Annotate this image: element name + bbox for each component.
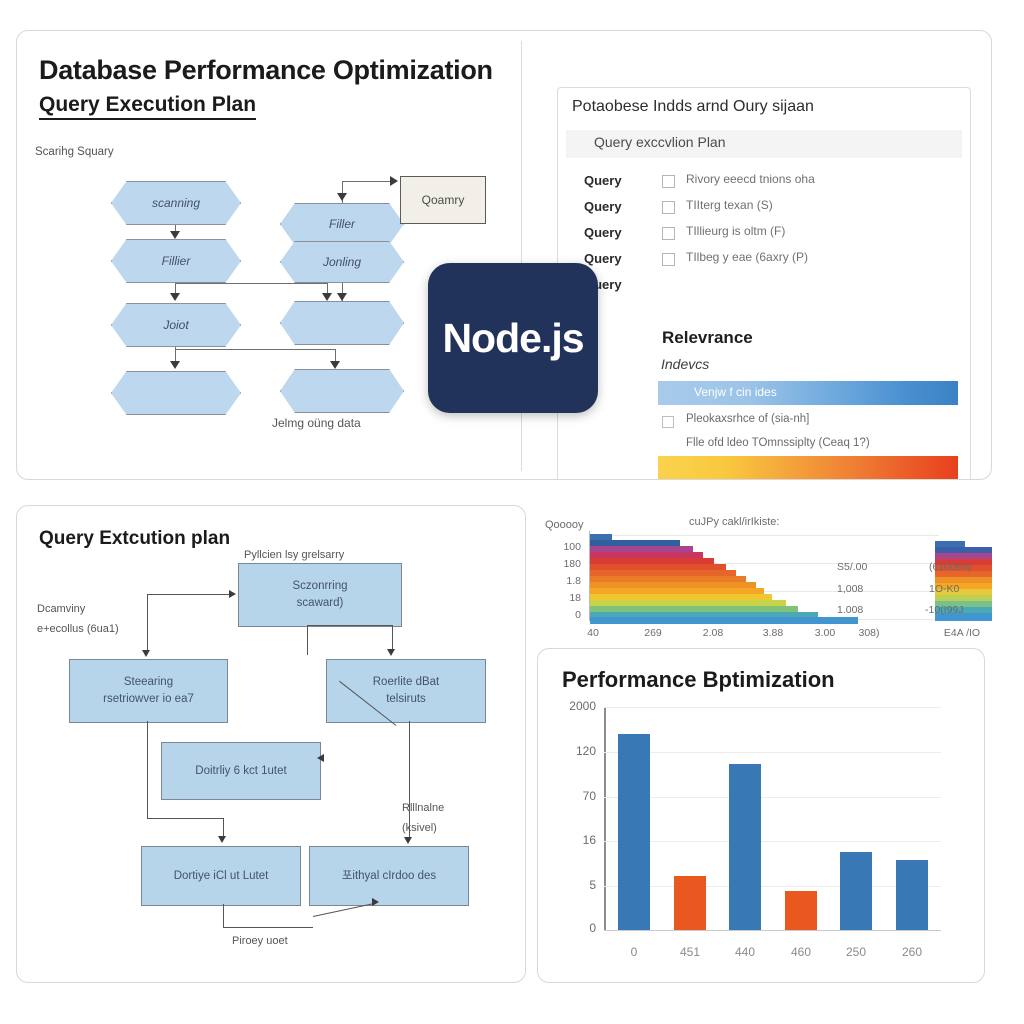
- performance-optimization-card: Performance Bptimization 2000 120 70 16 …: [537, 648, 985, 983]
- row-label: Query: [584, 225, 622, 240]
- screenshot-root: Database Performance Optimization Query …: [0, 0, 1024, 1024]
- node-scanning[interactable]: scanning: [111, 181, 241, 225]
- gridline: [589, 535, 939, 536]
- y-tick: 0: [547, 609, 581, 621]
- bar-chart-plot: 2000 120 70 16 5 0 0 451 440 460 250 260: [604, 707, 941, 931]
- y-tick: 16: [548, 833, 596, 847]
- arrow-head: [387, 649, 395, 656]
- x-tick: 3.88: [753, 627, 793, 639]
- panel-header: Potaobese Indds arnd Oury sijaan: [572, 98, 814, 116]
- bar: [590, 617, 858, 624]
- flow-note-left-1: Dcamviny: [37, 602, 85, 618]
- connector: [147, 594, 148, 652]
- indexes-heading: Indevcs: [661, 356, 709, 372]
- connector: [223, 927, 313, 928]
- flow-node-scanning[interactable]: Sczonrring scaward): [238, 563, 402, 627]
- list-item: Flle ofd ldeo TOmnssiplty (Ceaq 1?): [558, 436, 970, 458]
- x-tick: 440: [717, 945, 773, 959]
- legend-entry: 1O-K0: [929, 583, 959, 595]
- list-item[interactable]: Query TIllieurg is oltm (F): [558, 222, 970, 248]
- arrow-head: [229, 590, 236, 598]
- row-text: Pleokaxsrhce of (sia-nh]: [686, 413, 809, 425]
- checkbox-icon[interactable]: [662, 201, 675, 214]
- query-cost-chart: Qooooy cuJPy cakl/irIkiste: 100 180 1.8 …: [537, 505, 992, 643]
- node-label: Fillier: [111, 239, 241, 283]
- arrow-head: [404, 837, 412, 844]
- connector: [147, 594, 233, 595]
- node-line1: Sczonrring: [293, 578, 348, 595]
- arrow-head: [322, 293, 332, 301]
- connector: [175, 283, 327, 284]
- diagram-caption-left: Scarihg Squary: [35, 146, 114, 158]
- chart-ylabel: Qooooy: [545, 519, 584, 531]
- y-axis-line: [604, 707, 606, 931]
- node-line2: scaward): [297, 595, 344, 612]
- node-filter-right[interactable]: Filler: [280, 203, 404, 245]
- legend-entry: S5/.00: [837, 561, 867, 573]
- arrow-head: [170, 293, 180, 301]
- bar[interactable]: [674, 876, 706, 930]
- diagram-caption-bottom: Jelmg oüng data: [272, 416, 361, 430]
- x-tick: 2.08: [693, 627, 733, 639]
- flow-node-outlet-2[interactable]: Dortiye iCl ut Lutet: [141, 846, 301, 906]
- connector: [147, 818, 223, 819]
- connector: [342, 181, 392, 182]
- flow-note-right-2: (ksivel): [402, 821, 437, 837]
- chart-title: Performance Bptimization: [562, 667, 835, 693]
- relevance-heading: Relevrance: [662, 328, 753, 348]
- node-filter-left[interactable]: Fillier: [111, 239, 241, 283]
- checkbox-icon[interactable]: [662, 227, 675, 240]
- legend-entry: 1.008: [837, 604, 863, 616]
- node-label: [280, 301, 404, 345]
- x-tick: 3.00: [805, 627, 845, 639]
- flow-node-portal[interactable]: 포ithyal cIrdoo des: [309, 846, 469, 906]
- bar[interactable]: [840, 852, 872, 930]
- bar[interactable]: [618, 734, 650, 930]
- node-label: [111, 371, 241, 415]
- flow-node-steearing[interactable]: Steearing rsetriowver io ea7: [69, 659, 228, 723]
- bar[interactable]: [896, 860, 928, 930]
- arrow-head: [170, 231, 180, 239]
- panel-subheader: Query exccvlion Plan: [594, 134, 726, 150]
- x-tick: E4A /IO: [927, 627, 992, 639]
- x-tick: 308): [849, 627, 889, 639]
- y-tick: 18: [547, 592, 581, 604]
- checkbox-icon[interactable]: [662, 175, 675, 188]
- gridline: [604, 886, 941, 887]
- connector: [307, 625, 392, 626]
- y-tick: 180: [547, 558, 581, 570]
- x-tick: 460: [773, 945, 829, 959]
- x-tick: 250: [828, 945, 884, 959]
- arrow-head: [317, 754, 324, 762]
- list-item[interactable]: Query Rivory eeecd tnions oha: [558, 170, 970, 196]
- x-tick: 260: [884, 945, 940, 959]
- x-tick: 451: [662, 945, 718, 959]
- bottom-left-panel: Query Extcution plan Pyllcien lsy grelsa…: [16, 505, 526, 983]
- flow-node-outlet-1[interactable]: Doitrliy 6 kct 1utet: [161, 742, 321, 800]
- bar[interactable]: [729, 764, 761, 930]
- node-mid-right[interactable]: [280, 301, 404, 345]
- node-line1: Dortiye iCl ut Lutet: [174, 868, 269, 885]
- nodejs-logo-badge[interactable]: Node.js: [428, 263, 598, 413]
- row-label: Query: [584, 173, 622, 188]
- arrow-head: [337, 193, 347, 201]
- row-text: TIIterg texan (S): [686, 198, 773, 212]
- connector: [409, 721, 410, 839]
- page-title: Database Performance Optimization: [39, 55, 493, 86]
- chart-title: cuJPy cakl/irIkiste:: [689, 516, 779, 528]
- checkbox-icon[interactable]: [662, 253, 675, 266]
- node-line1: Roerlite dBat: [373, 674, 439, 691]
- y-tick: 100: [547, 541, 581, 553]
- arrow-head: [390, 176, 398, 186]
- blue-gradient-bar[interactable]: Venjw f cin ides: [658, 381, 958, 405]
- y-tick: 2000: [548, 699, 596, 713]
- node-line2: rsetriowver io ea7: [103, 691, 194, 708]
- node-bottom-right[interactable]: [280, 369, 404, 413]
- node-joining[interactable]: Jonling: [280, 241, 404, 283]
- panel-subheader-band: Query exccvlion Plan: [566, 130, 962, 158]
- node-label: Jonling: [280, 241, 404, 283]
- connector: [223, 904, 224, 928]
- connector: [307, 625, 308, 655]
- list-item[interactable]: Query TIlbeg y eae (6axry (P): [558, 248, 970, 274]
- node-label: Joiot: [111, 303, 241, 347]
- node-line2: telsiruts: [386, 691, 426, 708]
- panel-title: Query Extcution plan: [39, 528, 230, 550]
- gridline: [604, 752, 941, 753]
- y-tick: 120: [548, 744, 596, 758]
- legend-entry: -10(I99J: [925, 604, 964, 616]
- node-line1: 포ithyal cIrdoo des: [342, 868, 436, 885]
- arrow-head: [330, 361, 340, 369]
- x-tick: 269: [633, 627, 673, 639]
- node-label: [280, 369, 404, 413]
- x-tick: 0: [606, 945, 662, 959]
- legend-entry: (6100en): [929, 561, 971, 573]
- connector: [223, 818, 224, 838]
- node-join[interactable]: Joiot: [111, 303, 241, 347]
- arrow-head: [142, 650, 150, 657]
- row-text: TIlbeg y eae (6axry (P): [686, 250, 808, 264]
- page-subtitle: Query Execution Plan: [39, 93, 256, 120]
- y-tick: 5: [548, 878, 596, 892]
- row-label: Query: [584, 199, 622, 214]
- bar[interactable]: [785, 891, 817, 930]
- indexes-panel: Potaobese Indds arnd Oury sijaan Query e…: [557, 87, 971, 480]
- gridline: [604, 841, 941, 842]
- node-line1: Doitrliy 6 kct 1utet: [195, 763, 286, 780]
- arrow-head: [337, 293, 347, 301]
- arrow-head: [170, 361, 180, 369]
- list-item[interactable]: Ouery: [558, 274, 970, 300]
- row-text: TIllieurg is oltm (F): [686, 224, 785, 238]
- y-tick: 70: [548, 789, 596, 803]
- warm-gradient-bar[interactable]: [658, 456, 958, 480]
- query-box[interactable]: Qoamry: [400, 176, 486, 224]
- connector: [392, 625, 393, 651]
- gridline: [604, 707, 941, 708]
- list-item[interactable]: Pleokaxsrhce of (sia-nh]: [558, 412, 970, 434]
- arrow-head: [218, 836, 226, 843]
- list-item[interactable]: Query TIIterg texan (S): [558, 196, 970, 222]
- flow-note-bottom: Piroey uoet: [232, 934, 288, 950]
- connector: [147, 721, 148, 819]
- arrow-head: [372, 898, 379, 906]
- x-axis-line: [604, 930, 941, 932]
- nodejs-logo-label: Node.js: [442, 315, 583, 362]
- node-label: Filler: [280, 203, 404, 245]
- y-tick: 1.8: [547, 575, 581, 587]
- connector: [175, 349, 335, 350]
- node-label: scanning: [111, 181, 241, 225]
- blue-bar-label: Venjw f cin ides: [694, 385, 777, 399]
- row-text: Flle ofd ldeo TOmnssiplty (Ceaq 1?): [686, 437, 870, 449]
- gridline: [604, 797, 941, 798]
- x-tick: 40: [573, 627, 613, 639]
- flow-note-top: Pyllcien lsy grelsarry: [244, 548, 344, 564]
- flow-note-left-2: e+ecollus (6ua1): [37, 622, 119, 638]
- node-bottom-left[interactable]: [111, 371, 241, 415]
- checkbox-icon[interactable]: [662, 416, 674, 428]
- y-tick: 0: [548, 921, 596, 935]
- row-text: Rivory eeecd tnions oha: [686, 172, 815, 186]
- row-label: Query: [584, 251, 622, 266]
- legend-entry: 1,008: [837, 583, 863, 595]
- node-line1: Steearing: [124, 674, 173, 691]
